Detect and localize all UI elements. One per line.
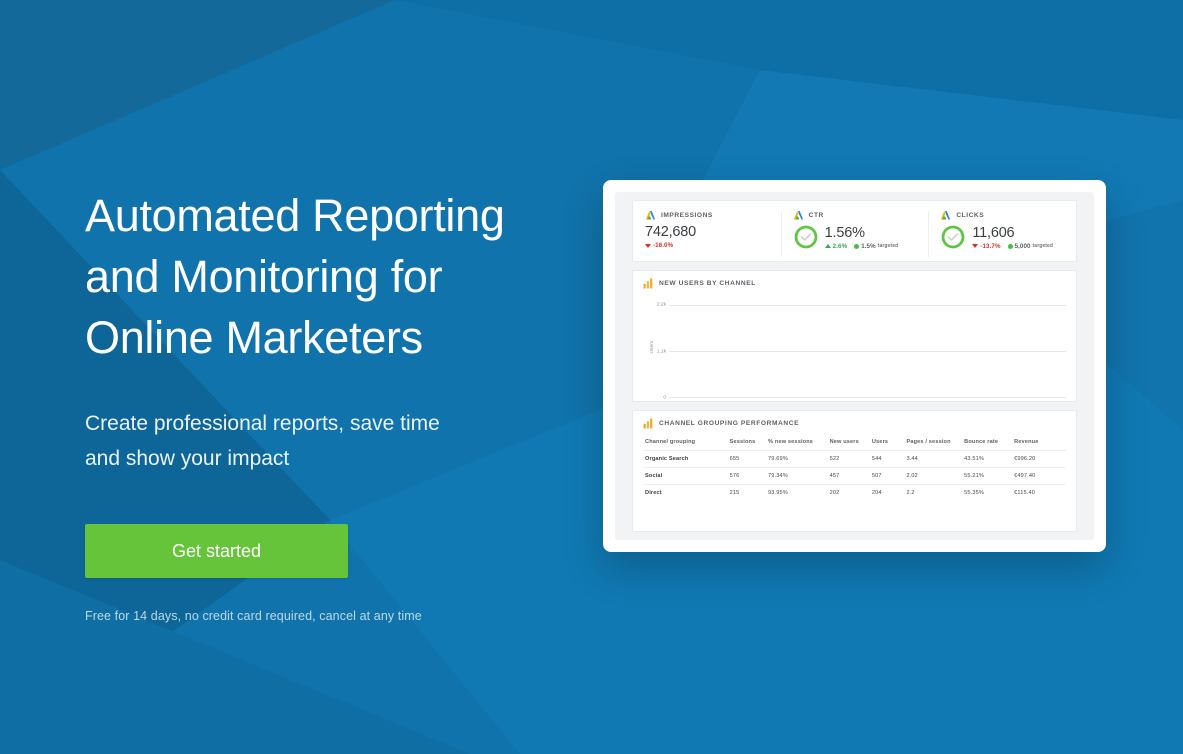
kpi-deltas: 2.6%1.5%targeted — [825, 243, 899, 250]
get-started-button[interactable]: Get started — [85, 524, 348, 578]
table-column-header: Bounce rate — [962, 436, 1012, 451]
kpi-values: 11,606-13.7%5,000targeted — [972, 225, 1053, 250]
hero-subtitle-line-1: Create professional reports, save time — [85, 412, 440, 435]
table-cell: €996.20 — [1012, 451, 1066, 468]
trend-down-icon — [645, 244, 651, 248]
page-title: Automated Reporting and Monitoring for O… — [85, 185, 555, 368]
table-cell: 55.35% — [962, 485, 1012, 502]
google-analytics-icon — [940, 210, 951, 221]
kpi-label: IMPRESSIONS — [661, 212, 713, 219]
table-cell: €115.40 — [1012, 485, 1066, 502]
table-cell: 576 — [728, 468, 766, 485]
kpi-body: 742,680-16.0% — [645, 224, 771, 249]
table-row: Direct21593.95%2022042.255.35%€115.40 — [643, 485, 1066, 502]
table-panel-title: CHANNEL GROUPING PERFORMANCE — [659, 420, 799, 427]
table-column-header: Sessions — [728, 436, 766, 451]
kpi-label: CLICKS — [956, 212, 984, 219]
y-axis-label: Users — [649, 341, 654, 354]
table-cell: 522 — [828, 451, 870, 468]
chart-plot-area: Users 01.1k2.2k — [643, 297, 1066, 397]
hero-subtitle-line-2: and show your impact — [85, 447, 289, 470]
table-cell: 2.2 — [904, 485, 962, 502]
dashboard-canvas: IMPRESSIONS742,680-16.0%CTR1.56%2.6%1.5%… — [615, 192, 1094, 540]
goal-dot-icon — [854, 244, 859, 249]
hero-title-line-2: and Monitoring for — [85, 251, 442, 302]
table-panel-header: CHANNEL GROUPING PERFORMANCE — [643, 418, 1066, 429]
table-cell: 93.95% — [766, 485, 828, 502]
bar-chart-icon — [643, 418, 654, 429]
table-cell: 2.02 — [904, 468, 962, 485]
goal-progress-donut-icon — [940, 224, 966, 250]
hero-section: Automated Reporting and Monitoring for O… — [85, 185, 555, 623]
table-cell: Organic Search — [643, 451, 728, 468]
table-cell: 79.34% — [766, 468, 828, 485]
table-cell: €497.40 — [1012, 468, 1066, 485]
table-column-header: Users — [870, 436, 905, 451]
channel-performance-panel: CHANNEL GROUPING PERFORMANCE Channel gro… — [632, 410, 1077, 532]
kpi-card: IMPRESSIONS742,680-16.0% — [633, 209, 781, 261]
channel-performance-table: Channel groupingSessions% new sessionsNe… — [643, 436, 1066, 501]
google-analytics-icon — [793, 210, 804, 221]
kpi-panel: IMPRESSIONS742,680-16.0%CTR1.56%2.6%1.5%… — [632, 200, 1077, 262]
table-header-row: Channel groupingSessions% new sessionsNe… — [643, 436, 1066, 451]
hero-title-line-3: Online Marketers — [85, 312, 423, 363]
table-cell: 507 — [870, 468, 905, 485]
table-column-header: Revenue — [1012, 436, 1066, 451]
hero-subtitle: Create professional reports, save time a… — [85, 406, 555, 476]
table-body: Organic Search65579.69%5225443.4443.51%€… — [643, 451, 1066, 502]
kpi-delta-value: -16.0% — [653, 242, 673, 249]
kpi-deltas: -16.0% — [645, 242, 696, 249]
table-cell: Social — [643, 468, 728, 485]
table-cell: 215 — [728, 485, 766, 502]
chart-bars — [669, 297, 1066, 397]
chart-panel-title: NEW USERS BY CHANNEL — [659, 280, 756, 287]
table-row: Organic Search65579.69%5225443.4443.51%€… — [643, 451, 1066, 468]
table-cell: Direct — [643, 485, 728, 502]
table-cell: 55.21% — [962, 468, 1012, 485]
kpi-body: 1.56%2.6%1.5%targeted — [793, 224, 919, 250]
bar-chart-icon — [643, 278, 654, 289]
google-analytics-icon — [645, 210, 656, 221]
table-cell: 3.44 — [904, 451, 962, 468]
y-axis-tick-label: 1.1k — [657, 349, 666, 354]
kpi-values: 1.56%2.6%1.5%targeted — [825, 225, 899, 250]
kpi-goal-suffix: targeted — [878, 243, 899, 249]
table-cell: 202 — [828, 485, 870, 502]
kpi-delta: 2.6% — [825, 243, 848, 250]
chart-gridline: 0 — [669, 397, 1066, 398]
table-column-header: New users — [828, 436, 870, 451]
chart-panel-header: NEW USERS BY CHANNEL — [643, 278, 1066, 289]
table-column-header: Channel grouping — [643, 436, 728, 451]
kpi-header: CTR — [793, 209, 919, 221]
cta-disclaimer: Free for 14 days, no credit card require… — [85, 609, 555, 623]
kpi-card: CTR1.56%2.6%1.5%targeted — [781, 209, 929, 261]
dashboard-mockup: IMPRESSIONS742,680-16.0%CTR1.56%2.6%1.5%… — [603, 180, 1106, 552]
kpi-goal-suffix: targeted — [1033, 243, 1054, 249]
table-column-header: % new sessions — [766, 436, 828, 451]
kpi-values: 742,680-16.0% — [645, 224, 696, 249]
kpi-goal: 1.5%targeted — [854, 243, 898, 250]
y-axis-tick-label: 0 — [663, 396, 666, 401]
kpi-label: CTR — [809, 212, 824, 219]
kpi-goal-value: 5,000 — [1015, 243, 1031, 250]
goal-dot-icon — [1008, 244, 1013, 249]
table-cell: 79.69% — [766, 451, 828, 468]
table-cell: 544 — [870, 451, 905, 468]
y-axis-tick-label: 2.2k — [657, 303, 666, 308]
kpi-delta: -13.7% — [972, 243, 1000, 250]
kpi-header: CLICKS — [940, 209, 1066, 221]
trend-up-icon — [825, 244, 831, 248]
kpi-body: 11,606-13.7%5,000targeted — [940, 224, 1066, 250]
kpi-header: IMPRESSIONS — [645, 209, 771, 221]
table-column-header: Pages / session — [904, 436, 962, 451]
table-cell: 457 — [828, 468, 870, 485]
kpi-value: 11,606 — [972, 225, 1053, 242]
hero-title-line-1: Automated Reporting — [85, 190, 505, 241]
kpi-card: CLICKS11,606-13.7%5,000targeted — [928, 209, 1076, 261]
kpi-delta-value: 2.6% — [833, 243, 848, 250]
kpi-value: 742,680 — [645, 224, 696, 241]
kpi-goal: 5,000targeted — [1008, 243, 1054, 250]
table-header: Channel groupingSessions% new sessionsNe… — [643, 436, 1066, 451]
table-cell: 204 — [870, 485, 905, 502]
table-cell: 43.51% — [962, 451, 1012, 468]
table-row: Social57679.34%4575072.0255.21%€497.40 — [643, 468, 1066, 485]
kpi-delta: -16.0% — [645, 242, 673, 249]
new-users-chart-panel: NEW USERS BY CHANNEL Users 01.1k2.2k — [632, 270, 1077, 402]
goal-progress-donut-icon — [793, 224, 819, 250]
kpi-deltas: -13.7%5,000targeted — [972, 243, 1053, 250]
trend-down-icon — [972, 244, 978, 248]
kpi-delta-value: -13.7% — [980, 243, 1000, 250]
kpi-value: 1.56% — [825, 225, 899, 242]
kpi-goal-value: 1.5% — [861, 243, 876, 250]
table-cell: 655 — [728, 451, 766, 468]
